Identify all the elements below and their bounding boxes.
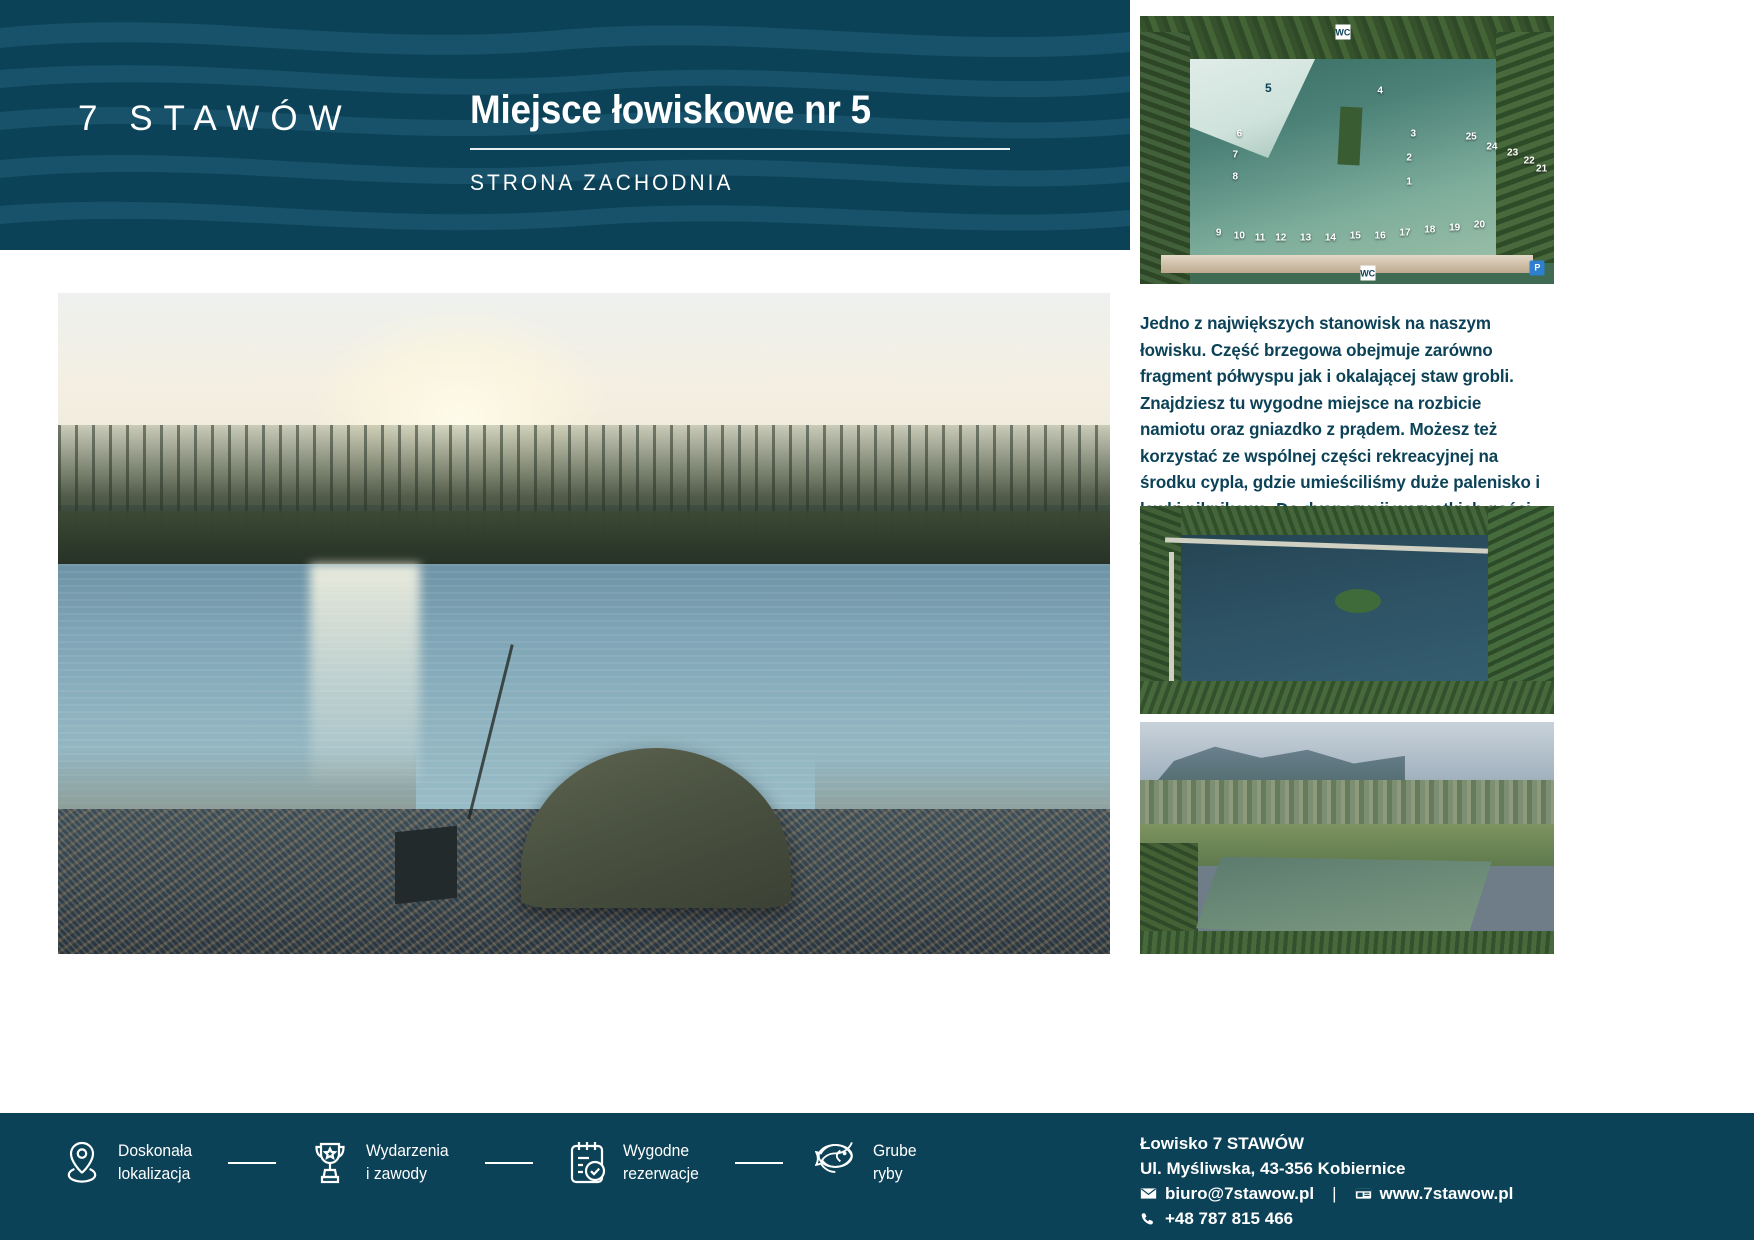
poster-page: 7 STAWÓW Miejsce łowiskowe nr 5 STRONA Z… xyxy=(0,0,1754,1240)
feature-item-4: Grube ryby xyxy=(815,1139,919,1187)
map-spot-5[interactable]: 5 xyxy=(1265,81,1272,95)
page-title: Miejsce łowiskowe nr 5 xyxy=(470,88,971,133)
map-spot-4[interactable]: 4 xyxy=(1377,86,1383,97)
map-peninsula xyxy=(1337,107,1362,166)
trophy-icon xyxy=(308,1139,352,1187)
contact-separator: | xyxy=(1332,1181,1336,1206)
map-spot-1[interactable]: 1 xyxy=(1406,177,1412,188)
map-spot-12[interactable]: 12 xyxy=(1275,233,1286,244)
toilet-icon: WC xyxy=(1360,266,1375,281)
aerial-island xyxy=(1335,589,1381,613)
map-trees-west xyxy=(1140,32,1190,284)
footer-band: Doskonała lokalizacjaWydarzenia i zawody… xyxy=(0,1113,1754,1240)
map-spot-13[interactable]: 13 xyxy=(1300,233,1311,244)
feature-label: Wydarzenia i zawody xyxy=(366,1140,449,1186)
map-spot-17[interactable]: 17 xyxy=(1399,228,1410,239)
calendar-check-icon xyxy=(565,1139,609,1187)
title-divider xyxy=(470,148,1010,150)
hero-photo xyxy=(58,293,1110,954)
contact-email[interactable]: biuro@7stawow.pl xyxy=(1165,1181,1314,1206)
map-spot-16[interactable]: 16 xyxy=(1375,230,1386,241)
aerial-trees-bottom xyxy=(1140,681,1554,714)
map-trees-east xyxy=(1496,32,1554,262)
browser-window-icon xyxy=(1355,1186,1372,1201)
map-spot-18[interactable]: 18 xyxy=(1424,225,1435,236)
title-block: Miejsce łowiskowe nr 5 STRONA ZACHODNIA xyxy=(470,88,1015,196)
map-spot-10[interactable]: 10 xyxy=(1234,230,1245,241)
valley-trees-bottom xyxy=(1140,931,1554,954)
contact-phone[interactable]: +48 787 815 466 xyxy=(1165,1206,1293,1231)
map-spot-23[interactable]: 23 xyxy=(1507,147,1518,158)
feature-label: Doskonała lokalizacja xyxy=(118,1140,192,1186)
parking-icon: P xyxy=(1530,260,1545,275)
brand-logo-text: 7 STAWÓW xyxy=(78,99,353,139)
contact-name-row: Łowisko 7 STAWÓW xyxy=(1140,1131,1740,1156)
aerial-valley-photo xyxy=(1140,722,1554,954)
map-spot-21[interactable]: 21 xyxy=(1536,163,1547,174)
envelope-icon xyxy=(1140,1186,1157,1201)
feature-label: Grube ryby xyxy=(873,1140,917,1186)
contact-block: Łowisko 7 STAWÓW Ul. Myśliwska, 43-356 K… xyxy=(1140,1131,1740,1231)
feature-item-1: Doskonała lokalizacja xyxy=(60,1139,196,1187)
page-subtitle: STRONA ZACHODNIA xyxy=(470,170,988,196)
map-spot-25[interactable]: 25 xyxy=(1466,131,1477,142)
fishing-chair xyxy=(395,826,457,905)
feature-label: Wygodne rezerwacje xyxy=(623,1140,699,1186)
feature-separator xyxy=(485,1162,533,1164)
header-band: 7 STAWÓW Miejsce łowiskowe nr 5 STRONA Z… xyxy=(0,0,1130,250)
map-spot-19[interactable]: 19 xyxy=(1449,222,1460,233)
contact-address-row: Ul. Myśliwska, 43-356 Kobiernice xyxy=(1140,1156,1740,1181)
hero-treeline-far xyxy=(58,511,1110,564)
map-spot-6[interactable]: 6 xyxy=(1237,128,1243,139)
map-spot-22[interactable]: 22 xyxy=(1524,155,1535,166)
fish-icon xyxy=(815,1139,859,1187)
contact-name: Łowisko 7 STAWÓW xyxy=(1140,1131,1304,1156)
map-spot-8[interactable]: 8 xyxy=(1232,171,1238,182)
feature-separator xyxy=(735,1162,783,1164)
map-spot-15[interactable]: 15 xyxy=(1350,230,1361,241)
contact-email-web-row: biuro@7stawow.pl | www.7stawow.pl xyxy=(1140,1181,1740,1206)
feature-separator xyxy=(228,1162,276,1164)
aerial-dike-left xyxy=(1169,552,1174,681)
feature-list: Doskonała lokalizacjaWydarzenia i zawody… xyxy=(60,1139,919,1187)
map-spot-2[interactable]: 2 xyxy=(1406,153,1412,164)
map-spot-11[interactable]: 11 xyxy=(1255,233,1266,244)
contact-address: Ul. Myśliwska, 43-356 Kobiernice xyxy=(1140,1156,1406,1181)
location-pin-icon xyxy=(60,1139,104,1187)
map-spot-24[interactable]: 24 xyxy=(1486,142,1497,153)
contact-website[interactable]: www.7stawow.pl xyxy=(1380,1181,1514,1206)
feature-item-3: Wygodne rezerwacje xyxy=(565,1139,703,1187)
contact-phone-row: +48 787 815 466 xyxy=(1140,1206,1740,1231)
map-spot-20[interactable]: 20 xyxy=(1474,220,1485,231)
feature-item-2: Wydarzenia i zawody xyxy=(308,1139,453,1187)
map-path-south xyxy=(1161,255,1534,274)
fishing-spots-map[interactable]: 5463257224238122219101112131415161718192… xyxy=(1140,16,1554,284)
phone-icon xyxy=(1140,1211,1157,1226)
toilet-icon: WC xyxy=(1335,25,1350,40)
map-spot-9[interactable]: 9 xyxy=(1216,228,1222,239)
map-spot-14[interactable]: 14 xyxy=(1325,233,1336,244)
map-spot-3[interactable]: 3 xyxy=(1410,128,1416,139)
map-spot-7[interactable]: 7 xyxy=(1232,150,1238,161)
valley-pond xyxy=(1190,857,1505,941)
aerial-lake-photo xyxy=(1140,506,1554,714)
